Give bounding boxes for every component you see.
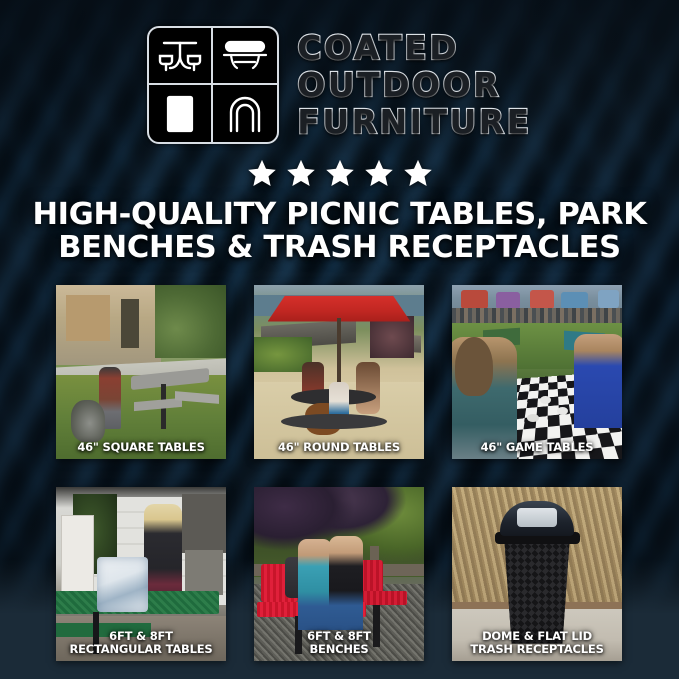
product-caption-line-1: 46" GAME TABLES — [452, 441, 622, 454]
product-caption: 46" GAME TABLES — [452, 441, 622, 454]
banner-content: COATED OUTDOOR FURNITURE HIGH-QUALITY PI… — [0, 0, 679, 679]
product-caption-line-2: TRASH RECEPTACLES — [452, 643, 622, 656]
product-tile-game-tables[interactable]: 46" GAME TABLES — [452, 285, 622, 459]
star-rating — [0, 158, 679, 188]
product-photo-game-tables — [452, 285, 622, 459]
product-grid: 46" SQUARE TABLES 46" ROUND TABLES — [56, 285, 622, 661]
logo-mark-icon — [147, 26, 279, 144]
product-tile-benches[interactable]: 6FT & 8FT BENCHES — [254, 487, 424, 661]
star-icon — [325, 158, 355, 188]
product-tile-square-tables[interactable]: 46" SQUARE TABLES — [56, 285, 226, 459]
star-icon — [403, 158, 433, 188]
picnic-table-icon — [149, 28, 213, 85]
headline-line-2: BENCHES & TRASH RECEPTACLES — [30, 231, 649, 264]
product-caption-line-1: 46" SQUARE TABLES — [56, 441, 226, 454]
star-icon — [286, 158, 316, 188]
product-caption: 6FT & 8FT BENCHES — [254, 630, 424, 656]
headline: HIGH-QUALITY PICNIC TABLES, PARK BENCHES… — [30, 198, 649, 264]
product-tile-rectangular-tables[interactable]: 6FT & 8FT RECTANGULAR TABLES — [56, 487, 226, 661]
product-caption-line-2: BENCHES — [254, 643, 424, 656]
product-photo-round-tables — [254, 285, 424, 459]
product-tile-round-tables[interactable]: 46" ROUND TABLES — [254, 285, 424, 459]
product-caption: DOME & FLAT LID TRASH RECEPTACLES — [452, 630, 622, 656]
product-photo-square-tables — [56, 285, 226, 459]
bike-rack-icon — [213, 85, 277, 142]
trash-receptacle-icon — [149, 85, 213, 142]
star-icon — [247, 158, 277, 188]
product-caption: 46" SQUARE TABLES — [56, 441, 226, 454]
product-caption: 6FT & 8FT RECTANGULAR TABLES — [56, 630, 226, 656]
logo-word-outdoor: OUTDOOR — [297, 67, 531, 103]
logo-word-coated: COATED — [297, 30, 531, 66]
brand-logo: COATED OUTDOOR FURNITURE — [0, 26, 679, 144]
promo-banner: COATED OUTDOOR FURNITURE HIGH-QUALITY PI… — [0, 0, 679, 679]
logo-word-furniture: FURNITURE — [297, 104, 531, 140]
headline-line-1: HIGH-QUALITY PICNIC TABLES, PARK — [32, 197, 646, 232]
park-bench-icon — [213, 28, 277, 85]
product-tile-trash-receptacles[interactable]: DOME & FLAT LID TRASH RECEPTACLES — [452, 487, 622, 661]
logo-wordmark: COATED OUTDOOR FURNITURE — [297, 30, 531, 140]
product-caption-line-1: 46" ROUND TABLES — [254, 441, 424, 454]
product-caption-line-2: RECTANGULAR TABLES — [56, 643, 226, 656]
product-caption: 46" ROUND TABLES — [254, 441, 424, 454]
star-icon — [364, 158, 394, 188]
